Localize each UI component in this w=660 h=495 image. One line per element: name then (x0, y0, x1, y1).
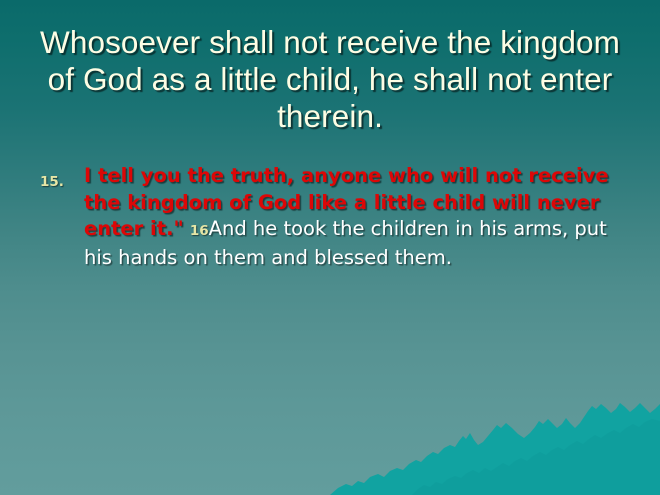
slide-title: Whosoever shall not receive the kingdom … (24, 24, 636, 135)
verse-number-16: 16 (190, 223, 209, 239)
slide-body: 15. I tell you the truth, anyone who wil… (32, 163, 632, 271)
verse-number-15: 15. (40, 169, 64, 196)
presentation-slide: Whosoever shall not receive the kingdom … (0, 0, 660, 495)
body-paragraph: I tell you the truth, anyone who will no… (32, 163, 632, 271)
